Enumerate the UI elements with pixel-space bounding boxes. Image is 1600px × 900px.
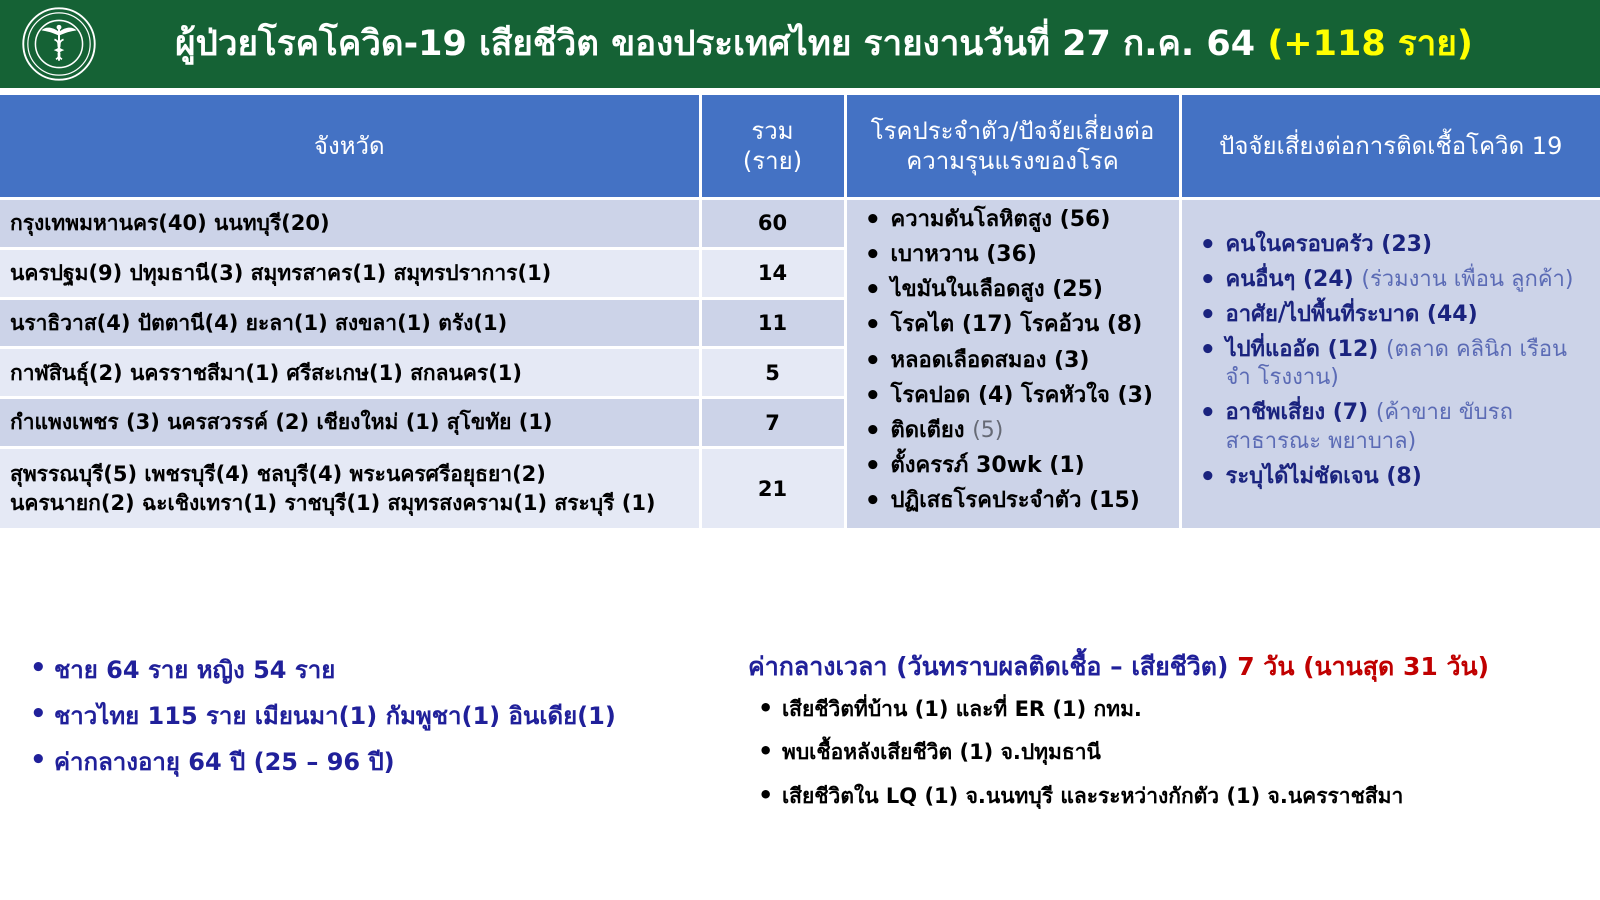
median-time-heading: ค่ากลางเวลา (วันทราบผลติดเชื้อ – เสียชีว… [748,652,1600,682]
list-item: เบาหวาน (36) [857,241,1169,269]
list-item: โรคปอด (4) โรคหัวใจ (3) [857,382,1169,410]
list-item: ปฏิเสธโรคประจำตัว (15) [857,487,1169,515]
demographics-list: ชาย 64 ราย หญิง 54 ราย ชาวไทย 115 ราย เม… [18,655,718,777]
province-line: กำแพงเพชร (3) นครสวรรค์ (2) เชียงใหม่ (1… [10,408,689,436]
list-item: ไขมันในเลือดสูง (25) [857,276,1169,304]
list-item: ไปที่แออัด (12) (ตลาด คลินิก เรือนจำ โรง… [1192,336,1591,392]
deaths-table: จังหวัด รวม (ราย) โรคประจำตัว/ปัจจัยเสี่… [0,92,1600,531]
total-cell: 14 [700,248,845,298]
risk-factor-detail: (ร่วมงาน เพื่อน ลูกค้า) [1361,267,1573,292]
comorbidity-count: (5) [972,418,1003,443]
comorbidity-label: หลอดเลือดสมอง (3) [891,348,1090,373]
comorbidity-label: ไขมันในเลือดสูง (25) [891,277,1103,302]
province-line: นครปฐม(9) ปทุมธานี(3) สมุทรสาคร(1) สมุทร… [10,259,689,287]
province-cell: กรุงเทพมหานคร(40) นนทบุรี(20) [0,199,700,249]
province-cell: สุพรรณบุรี(5) เพชรบุรี(4) ชลบุรี(4) พระน… [0,447,700,529]
total-cell: 11 [700,298,845,348]
comorbidity-label: เบาหวาน (36) [891,242,1037,267]
risk-factor-label: ไปที่แออัด (12) [1226,337,1386,362]
total-cell: 5 [700,348,845,398]
timing-summary: ค่ากลางเวลา (วันทราบผลติดเชื้อ – เสียชีว… [748,652,1600,826]
province-cell: กาฬสินธุ์(2) นครราชสีมา(1) ศรีสะเกษ(1) ส… [0,348,700,398]
column-header-risk-factor: ปัจจัยเสี่ยงต่อการติดเชื้อโควิด 19 [1180,94,1600,199]
province-cell: นครปฐม(9) ปทุมธานี(3) สมุทรสาคร(1) สมุทร… [0,248,700,298]
comorbidity-label: ติดเตียง [891,418,973,443]
column-header-comorbidity-line2: ความรุนแรงของโรค [855,146,1171,176]
comorbidity-label: โรคไต (17) โรคอ้วน (8) [891,312,1143,337]
moph-logo-container [0,0,118,88]
risk-factor-label: อาศัย/ไปพื้นที่ระบาด (44) [1226,302,1478,327]
province-cell: กำแพงเพชร (3) นครสวรรค์ (2) เชียงใหม่ (1… [0,398,700,448]
province-cell: นราธิวาส(4) ปัตตานี(4) ยะลา(1) สงขลา(1) … [0,298,700,348]
risk-factor-label: คนอื่นๆ (24) [1226,267,1362,292]
list-item: ความดันโลหิตสูง (56) [857,206,1169,234]
total-cell: 21 [700,447,845,529]
comorbidity-label: ตั้งครรภ์ 30wk (1) [891,453,1085,478]
moph-emblem-icon [21,6,97,82]
comorbidity-list: ความดันโลหิตสูง (56) เบาหวาน (36) ไขมันใ… [857,206,1169,515]
death-location-list: เสียชีวิตที่บ้าน (1) และที่ ER (1) กทม. … [748,696,1600,809]
list-item: อาชีพเสี่ยง (7) (ค้าขาย ขับรถสาธารณะ พยา… [1192,399,1591,455]
list-item: คนในครอบครัว (23) [1192,231,1591,259]
table-header-row: จังหวัด รวม (ราย) โรคประจำตัว/ปัจจัยเสี่… [0,94,1600,199]
column-header-total-line2: (ราย) [710,146,836,176]
province-line: นครนายก(2) ฉะเชิงเทรา(1) ราชบุรี(1) สมุท… [10,489,689,517]
province-line: กาฬสินธุ์(2) นครราชสีมา(1) ศรีสะเกษ(1) ส… [10,359,689,387]
column-header-comorbidity: โรคประจำตัว/ปัจจัยเสี่ยงต่อ ความรุนแรงขอ… [845,94,1180,199]
list-item: ติดเตียง (5) [857,417,1169,445]
list-item: ชาย 64 ราย หญิง 54 ราย [18,655,718,685]
province-line: กรุงเทพมหานคร(40) นนทบุรี(20) [10,209,689,237]
risk-factor-label: ระบุได้ไม่ชัดเจน (8) [1226,464,1422,489]
title-delta-badge: (+118 ราย) [1267,24,1473,64]
list-item: ระบุได้ไม่ชัดเจน (8) [1192,463,1591,491]
title-main-text: ผู้ป่วยโรคโควิด-19 เสียชีวิต ของประเทศไท… [175,24,1267,64]
list-item: พบเชื้อหลังเสียชีวิต (1) จ.ปทุมธานี [748,739,1600,765]
list-item: คนอื่นๆ (24) (ร่วมงาน เพื่อน ลูกค้า) [1192,266,1591,294]
risk-factor-list: คนในครอบครัว (23) คนอื่นๆ (24) (ร่วมงาน … [1192,231,1591,491]
list-item: เสียชีวิตที่บ้าน (1) และที่ ER (1) กทม. [748,696,1600,722]
column-header-total: รวม (ราย) [700,94,845,199]
list-item: โรคไต (17) โรคอ้วน (8) [857,311,1169,339]
risk-factor-label: คนในครอบครัว (23) [1226,232,1433,257]
demographics-summary: ชาย 64 ราย หญิง 54 ราย ชาวไทย 115 ราย เม… [18,655,718,793]
list-item: หลอดเลือดสมอง (3) [857,347,1169,375]
total-cell: 7 [700,398,845,448]
list-item: ชาวไทย 115 ราย เมียนมา(1) กัมพูชา(1) อิน… [18,701,718,731]
column-header-province: จังหวัด [0,94,700,199]
province-line: นราธิวาส(4) ปัตตานี(4) ยะลา(1) สงขลา(1) … [10,309,689,337]
table-body: กรุงเทพมหานคร(40) นนทบุรี(20) 60 ความดัน… [0,199,1600,530]
page-title: ผู้ป่วยโรคโควิด-19 เสียชีวิต ของประเทศไท… [118,25,1600,64]
list-item: อาศัย/ไปพื้นที่ระบาด (44) [1192,301,1591,329]
comorbidity-label: โรคปอด (4) โรคหัวใจ (3) [891,383,1153,408]
column-header-total-line1: รวม [710,116,836,146]
infographic-page: ผู้ป่วยโรคโควิด-19 เสียชีวิต ของประเทศไท… [0,0,1600,900]
comorbidity-cell: ความดันโลหิตสูง (56) เบาหวาน (36) ไขมันใ… [845,199,1180,530]
column-header-comorbidity-line1: โรคประจำตัว/ปัจจัยเสี่ยงต่อ [855,116,1171,146]
comorbidity-label: ปฏิเสธโรคประจำตัว (15) [891,488,1140,513]
comorbidity-label: ความดันโลหิตสูง (56) [891,207,1111,232]
median-time-label: ค่ากลางเวลา (วันทราบผลติดเชื้อ – เสียชีว… [748,652,1237,681]
header-banner: ผู้ป่วยโรคโควิด-19 เสียชีวิต ของประเทศไท… [0,0,1600,88]
risk-factor-label: อาชีพเสี่ยง (7) [1226,400,1376,425]
list-item: ค่ากลางอายุ 64 ปี (25 – 96 ปี) [18,747,718,777]
province-line: สุพรรณบุรี(5) เพชรบุรี(4) ชลบุรี(4) พระน… [10,460,689,488]
list-item: ตั้งครรภ์ 30wk (1) [857,452,1169,480]
risk-factor-cell: คนในครอบครัว (23) คนอื่นๆ (24) (ร่วมงาน … [1180,199,1600,530]
total-cell: 60 [700,199,845,249]
list-item: เสียชีวิตใน LQ (1) จ.นนทบุรี และระหว่างก… [748,783,1600,809]
table-row: กรุงเทพมหานคร(40) นนทบุรี(20) 60 ความดัน… [0,199,1600,249]
median-time-value: 7 วัน (นานสุด 31 วัน) [1237,652,1489,681]
